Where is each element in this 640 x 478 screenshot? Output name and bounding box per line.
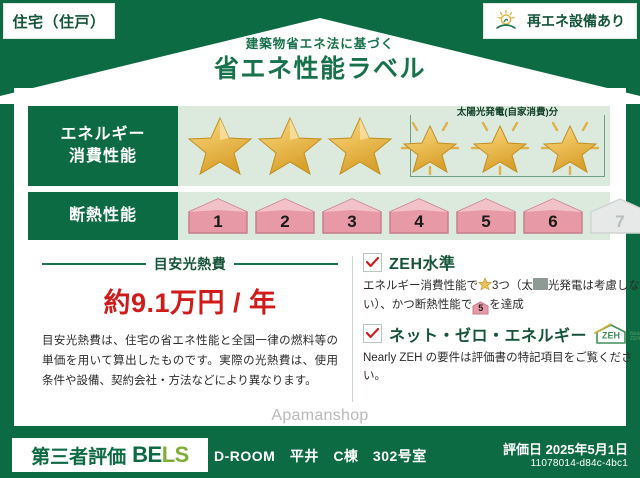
bels-en-label: BELS bbox=[132, 442, 189, 468]
checkbox-checked bbox=[363, 324, 382, 343]
bels-jp-label: 第三者評価 bbox=[31, 442, 126, 469]
insulation-level-number: 2 bbox=[280, 212, 289, 235]
criteria-net-zero-energy: ネット・ゼロ・エネルギー ZEH Nearly ZEH Nearly ZEH の… bbox=[363, 322, 640, 386]
insulation-level-number: 1 bbox=[213, 212, 222, 235]
star-icon bbox=[478, 277, 492, 291]
energy-performance-key: エネルギー 消費性能 bbox=[28, 106, 178, 186]
insulation-level-mini-number: 5 bbox=[472, 301, 489, 316]
star-icon bbox=[186, 114, 254, 178]
zeh-desc-part4: を達成 bbox=[489, 299, 524, 311]
insulation-level-scale: 1 2 3 4 5 bbox=[186, 197, 640, 235]
star-icon-solar bbox=[466, 114, 534, 178]
criteria-nze-description: Nearly ZEH の要件は評価書の特記項目をご覧ください。 bbox=[363, 349, 640, 386]
insulation-level-house: 6 bbox=[521, 197, 585, 235]
insulation-performance-row: 断熱性能 1 2 3 bbox=[28, 192, 610, 240]
insulation-level-house: 2 bbox=[253, 197, 317, 235]
bels-en-part2: LS bbox=[162, 442, 189, 467]
insulation-level-number: 5 bbox=[481, 212, 490, 235]
insulation-level-house: 4 bbox=[387, 197, 451, 235]
insulation-level-house-inactive: 7 bbox=[588, 197, 640, 235]
insulation-level-house: 3 bbox=[320, 197, 384, 235]
energy-performance-value: 太陽光発電(自家消費)分 bbox=[178, 106, 610, 186]
utility-cost-value: 約9.1万円 / 年 bbox=[42, 281, 338, 320]
energy-key-line1: エネルギー bbox=[60, 124, 145, 146]
zeh-logo-subtext: Nearly ZEH bbox=[630, 332, 640, 345]
checkbox-checked bbox=[363, 253, 382, 272]
bels-logo: 第三者評価 BELS bbox=[12, 438, 208, 472]
utility-cost-note: 目安光熱費は、住宅の省エネ性能と全国一律の燃料等の単価を用いて算出したものです。… bbox=[42, 331, 338, 391]
criteria-zeh-description: エネルギー消費性能で3つ（太光発電は考慮しない）、かつ断熱性能で5を達成 bbox=[363, 277, 640, 315]
check-icon bbox=[366, 257, 379, 268]
insulation-level-house: 1 bbox=[186, 197, 250, 235]
star-icon bbox=[256, 114, 324, 178]
evaluation-date-value: 2025年5月1日 bbox=[546, 442, 628, 457]
rule-left bbox=[42, 263, 146, 265]
insulation-performance-key: 断熱性能 bbox=[28, 192, 178, 240]
insulation-performance-value: 1 2 3 4 5 bbox=[178, 192, 610, 240]
star-icon-solar bbox=[536, 114, 604, 178]
zeh-desc-part1: エネルギー消費性能で bbox=[363, 280, 478, 292]
utility-cost-heading-label: 目安光熱費 bbox=[154, 254, 227, 274]
criteria-nze-title: ネット・ゼロ・エネルギー ZEH Nearly ZEH bbox=[363, 322, 640, 346]
evaluation-id: 11078014-d84c-4bc1 bbox=[531, 458, 628, 469]
energy-performance-label: 建築物省エネ法に基づく 省エネ性能ラベル 住宅（住戸） 再エネ設備あり エネルギ… bbox=[0, 0, 640, 478]
utility-cost-column: 目安光熱費 約9.1万円 / 年 目安光熱費は、住宅の省エネ性能と全国一律の燃料… bbox=[28, 250, 348, 410]
label-body-card: エネルギー 消費性能 太陽光発電(自家消費)分 bbox=[14, 88, 626, 426]
evaluation-date: 評価日 2025年5月1日 bbox=[503, 439, 628, 458]
bels-en-part1: BE bbox=[132, 442, 162, 467]
zeh-house-logo-icon: ZEH bbox=[594, 323, 628, 345]
criteria-column: ZEH水準 エネルギー消費性能で3つ（太光発電は考慮しない）、かつ断熱性能で5を… bbox=[363, 250, 640, 410]
insulation-level-number: 6 bbox=[548, 212, 557, 235]
utility-cost-heading: 目安光熱費 bbox=[42, 254, 338, 274]
redacted-character bbox=[533, 278, 548, 290]
insulation-level-number: 3 bbox=[347, 212, 356, 235]
criteria-nze-name: ネット・ゼロ・エネルギー bbox=[389, 322, 587, 346]
property-name: D-ROOM 平井 C棟 302号室 bbox=[214, 446, 427, 466]
insulation-level-house: 5 bbox=[454, 197, 518, 235]
column-divider bbox=[352, 256, 353, 402]
sun-icon bbox=[495, 9, 521, 33]
rule-right bbox=[234, 263, 338, 265]
energy-key-line2: 消費性能 bbox=[69, 146, 137, 168]
check-icon bbox=[366, 328, 379, 339]
renewable-badge-label: 再エネ設備あり bbox=[527, 11, 625, 31]
criteria-zeh-title: ZEH水準 bbox=[363, 250, 640, 274]
insulation-level-mini-badge: 5 bbox=[472, 301, 489, 315]
energy-performance-row: エネルギー 消費性能 太陽光発電(自家消費)分 bbox=[28, 106, 610, 186]
star-icon bbox=[326, 114, 394, 178]
housing-type-badge-label: 住宅（住戸） bbox=[12, 11, 105, 32]
renewable-equipment-badge: 再エネ設備あり bbox=[483, 3, 637, 39]
zeh-logo-text: ZEH bbox=[602, 330, 620, 340]
insulation-level-number: 7 bbox=[615, 212, 624, 235]
insulation-level-number: 4 bbox=[414, 212, 423, 235]
footer-bar: 第三者評価 BELS D-ROOM 平井 C棟 302号室 評価日 2025年5… bbox=[0, 433, 640, 478]
star-icon-solar bbox=[396, 114, 464, 178]
lower-section: 目安光熱費 約9.1万円 / 年 目安光熱費は、住宅の省エネ性能と全国一律の燃料… bbox=[28, 250, 640, 410]
housing-type-badge: 住宅（住戸） bbox=[3, 3, 115, 39]
criteria-zeh-name: ZEH水準 bbox=[389, 250, 456, 274]
watermark: Apamanshop bbox=[0, 407, 640, 425]
zeh-logo-group: ZEH Nearly ZEH bbox=[594, 323, 640, 345]
evaluation-date-label: 評価日 bbox=[503, 442, 542, 457]
zeh-desc-part2: 3つ（太 bbox=[492, 280, 533, 292]
star-rating bbox=[186, 114, 604, 178]
insulation-key-label: 断熱性能 bbox=[69, 205, 137, 227]
criteria-zeh-standard: ZEH水準 エネルギー消費性能で3つ（太光発電は考慮しない）、かつ断熱性能で5を… bbox=[363, 250, 640, 315]
